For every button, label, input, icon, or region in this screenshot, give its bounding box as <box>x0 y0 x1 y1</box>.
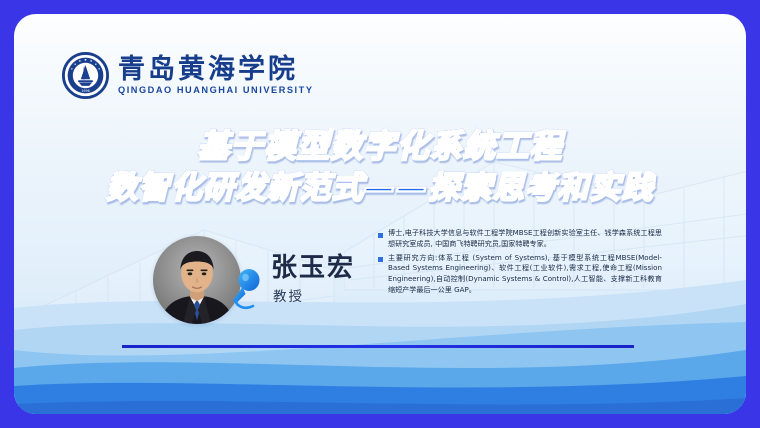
bullet-square-icon <box>378 257 383 262</box>
divider-line <box>122 345 634 348</box>
speaker-bio-list: 博士,电子科技大学信息与软件工程学院MBSE工程创新实验室主任、钱学森系统工程思… <box>378 228 662 299</box>
title-line-2: 数智化研发新范式——探索思考和实践 <box>14 168 746 208</box>
university-logo: 1996 青岛黄海学院 QINGDAO HUANGHAI UNIVERSITY <box>62 52 314 99</box>
bio-item-text: 博士,电子科技大学信息与软件工程学院MBSE工程创新实验室主任、钱学森系统工程思… <box>388 228 662 250</box>
bio-item-text: 主要研究方向:体系工程 (System of Systems), 基于模型系统工… <box>388 253 662 296</box>
slide-panel: 1996 青岛黄海学院 QINGDAO HUANGHAI UNIVERSITY … <box>14 14 746 414</box>
speaker-title: 教授 <box>273 291 355 305</box>
presentation-slide: 1996 青岛黄海学院 QINGDAO HUANGHAI UNIVERSITY … <box>0 0 760 428</box>
speaker-block: 张玉宏 教授 <box>153 236 355 324</box>
university-crest-sailboat-icon: 1996 <box>62 52 109 99</box>
title-line-1: 基于模型数字化系统工程 <box>14 126 746 168</box>
svg-text:1996: 1996 <box>81 89 89 93</box>
university-name-cn: 青岛黄海学院 <box>118 56 314 83</box>
slide-title: 基于模型数字化系统工程 数智化研发新范式——探索思考和实践 <box>14 126 746 208</box>
microphone-icon <box>229 268 263 312</box>
bullet-square-icon <box>378 233 383 238</box>
speaker-name: 张玉宏 <box>271 255 355 281</box>
bio-item: 主要研究方向:体系工程 (System of Systems), 基于模型系统工… <box>378 253 662 296</box>
bio-item: 博士,电子科技大学信息与软件工程学院MBSE工程创新实验室主任、钱学森系统工程思… <box>378 228 662 250</box>
speaker-portrait-photo <box>153 236 241 324</box>
university-name-en: QINGDAO HUANGHAI UNIVERSITY <box>118 86 314 95</box>
